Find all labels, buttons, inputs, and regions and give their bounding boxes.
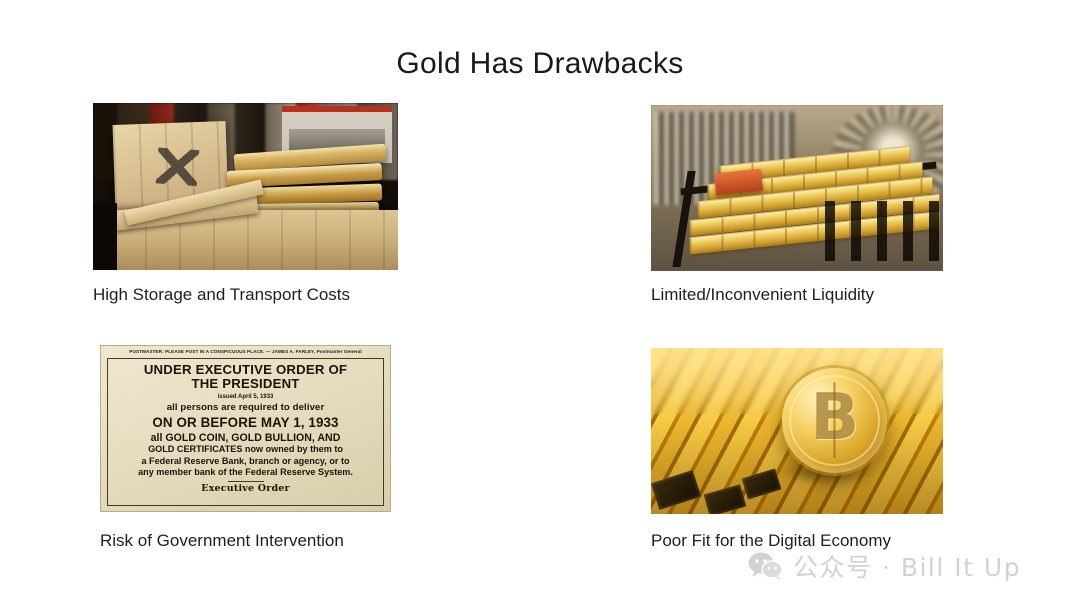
poster-frame: UNDER EXECUTIVE ORDER OF THE PRESIDENT i… (107, 358, 384, 506)
item-risk-of-government-intervention: POSTMASTER: PLEASE POST IN A CONSPICUOUS… (100, 345, 391, 512)
floor-shadow (93, 203, 117, 270)
poster-deadline: ON OR BEFORE MAY 1, 1933 (113, 415, 378, 430)
poster-signature: Executive Order (113, 483, 378, 494)
item-poor-fit-digital-economy: B (651, 348, 943, 514)
poster-body-line-3: a Federal Reserve Bank, branch or agency… (113, 456, 378, 467)
gold-bars-in-wooden-crates-photo (93, 103, 398, 270)
item-limited-inconvenient-liquidity (651, 105, 943, 271)
caption-high-storage-transport-costs: High Storage and Transport Costs (93, 285, 350, 305)
watermark-text: 公众号 · Bill It Up (793, 548, 1021, 584)
poster-issued-date: issued April 5, 1933 (113, 394, 378, 400)
executive-order-6102-poster: POSTMASTER: PLEASE POST IN A CONSPICUOUS… (100, 345, 391, 512)
page-title: Gold Has Drawbacks (0, 46, 1080, 82)
poster-headline-1: UNDER EXECUTIVE ORDER OF (113, 363, 378, 377)
item-high-storage-transport-costs (93, 103, 398, 270)
wechat-logo-icon (748, 552, 784, 580)
poster-divider (228, 481, 264, 482)
bitcoin-coin-on-gold-bars-photo: B (651, 348, 943, 514)
poster-body-line-4: any member bank of the Federal Reserve S… (113, 467, 378, 478)
bitcoin-coin-icon: B (782, 368, 887, 473)
poster-body: all GOLD COIN, GOLD BULLION, AND GOLD CE… (113, 432, 378, 478)
foreground-shadow (809, 201, 943, 261)
stacked-gold-bars-vault-photo (651, 105, 943, 271)
watermark: 公众号 · Bill It Up (748, 548, 1021, 584)
poster-body-line-2: GOLD CERTIFICATES now owned by them to (113, 444, 378, 455)
poster-headline-2: THE PRESIDENT (113, 377, 378, 391)
bitcoin-symbol-strokes (832, 382, 837, 458)
caption-risk-of-government-intervention: Risk of Government Intervention (100, 531, 344, 551)
slide-canvas: Gold Has Drawbacks High Storage and Tran… (0, 0, 1080, 608)
crate-stamp-icon (156, 147, 199, 186)
poster-body-line-1: all GOLD COIN, GOLD BULLION, AND (113, 432, 378, 445)
caption-limited-inconvenient-liquidity: Limited/Inconvenient Liquidity (651, 285, 874, 305)
poster-subline: all persons are required to deliver (113, 402, 378, 413)
poster-postmaster-line: POSTMASTER: PLEASE POST IN A CONSPICUOUS… (101, 349, 390, 354)
